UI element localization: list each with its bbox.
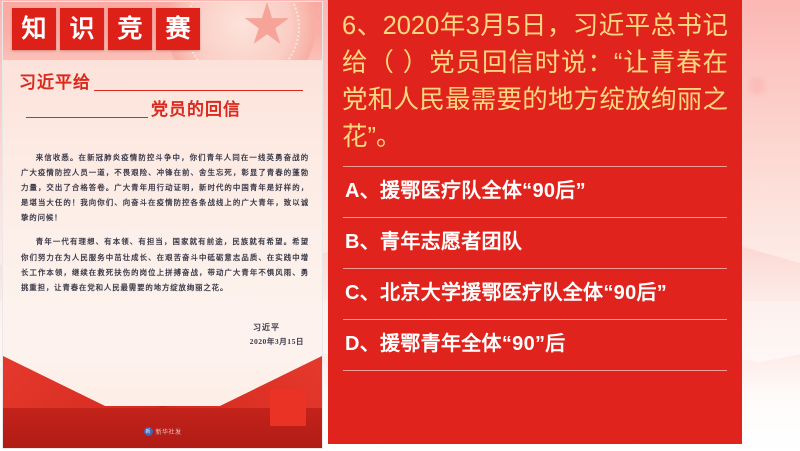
option-d-text: 援鄂青年全体“90”后 xyxy=(380,333,566,355)
option-c-text: 北京大学援鄂医疗队全体“90后” xyxy=(380,282,667,304)
answer-option-a[interactable]: A、援鄂医疗队全体“90后” xyxy=(343,166,727,217)
heading-blank-1 xyxy=(94,75,303,91)
answer-option-b[interactable]: B、青年志愿者团队 xyxy=(343,217,727,268)
letter-heading-line-1: 习近平给 xyxy=(3,64,322,91)
option-b-letter: B、 xyxy=(345,231,380,253)
option-c-letter: C、 xyxy=(345,282,380,304)
letter-heading-line-2: 党员的回信 xyxy=(3,91,322,118)
xinhua-watermark: 新 新华社发 xyxy=(143,427,181,436)
title-tag-2: 识 xyxy=(60,8,104,50)
letter-signature-name: 习近平 xyxy=(253,322,280,333)
letter-paragraph-1: 来信收悉。在新冠肺炎疫情防控斗争中，你们青年人同在一线英勇奋战的广大疫情防控人员… xyxy=(21,150,309,225)
quiz-question-panel: 6、2020年3月5日，习近平总书记给（ ）党员回信时说：“让青春在党和人民最需… xyxy=(328,0,742,444)
envelope-graphic: 新 新华社发 xyxy=(3,356,322,448)
letter-signature-date: 2020年3月15日 xyxy=(250,336,304,347)
title-tag-4: 赛 xyxy=(156,8,200,50)
heading-blank-2 xyxy=(26,102,148,118)
option-d-letter: D、 xyxy=(345,333,380,355)
letter-heading: 习近平给 党员的回信 xyxy=(3,64,322,118)
envelope-stamp xyxy=(270,390,306,426)
watermark-label: 新华社发 xyxy=(155,427,181,436)
letter-image-panel: 知 识 竞 赛 习近平给 党员的回信 来信收悉。在新冠肺炎疫情防控斗争中，你们青… xyxy=(3,2,322,448)
option-a-text: 援鄂医疗队全体“90后” xyxy=(380,180,586,202)
letter-heading-text-1: 习近平给 xyxy=(19,74,91,91)
quiz-title-tags: 知 识 竞 赛 xyxy=(12,8,200,50)
letter-paragraph-2: 青年一代有理想、有本领、有担当，国家就有前途，民族就有希望。希望你们努力在为人民… xyxy=(21,234,309,294)
answer-option-d[interactable]: D、援鄂青年全体“90”后 xyxy=(343,319,727,371)
option-b-text: 青年志愿者团队 xyxy=(380,231,522,253)
quiz-slide: 知 识 竞 赛 习近平给 党员的回信 来信收悉。在新冠肺炎疫情防控斗争中，你们青… xyxy=(0,0,800,451)
letter-heading-text-2: 党员的回信 xyxy=(151,101,241,118)
letter-body: 来信收悉。在新冠肺炎疫情防控斗争中，你们青年人同在一线英勇奋战的广大疫情防控人员… xyxy=(21,150,309,304)
title-tag-1: 知 xyxy=(12,8,56,50)
question-text: 6、2020年3月5日，习近平总书记给（ ）党员回信时说：“让青春在党和人民最需… xyxy=(342,8,728,156)
xinhua-logo-icon: 新 xyxy=(143,427,152,436)
answer-options-list: A、援鄂医疗队全体“90后” B、青年志愿者团队 C、北京大学援鄂医疗队全体“9… xyxy=(343,166,727,371)
title-tag-3: 竞 xyxy=(108,8,152,50)
answer-option-c[interactable]: C、北京大学援鄂医疗队全体“90后” xyxy=(343,268,727,319)
option-a-letter: A、 xyxy=(345,180,380,202)
